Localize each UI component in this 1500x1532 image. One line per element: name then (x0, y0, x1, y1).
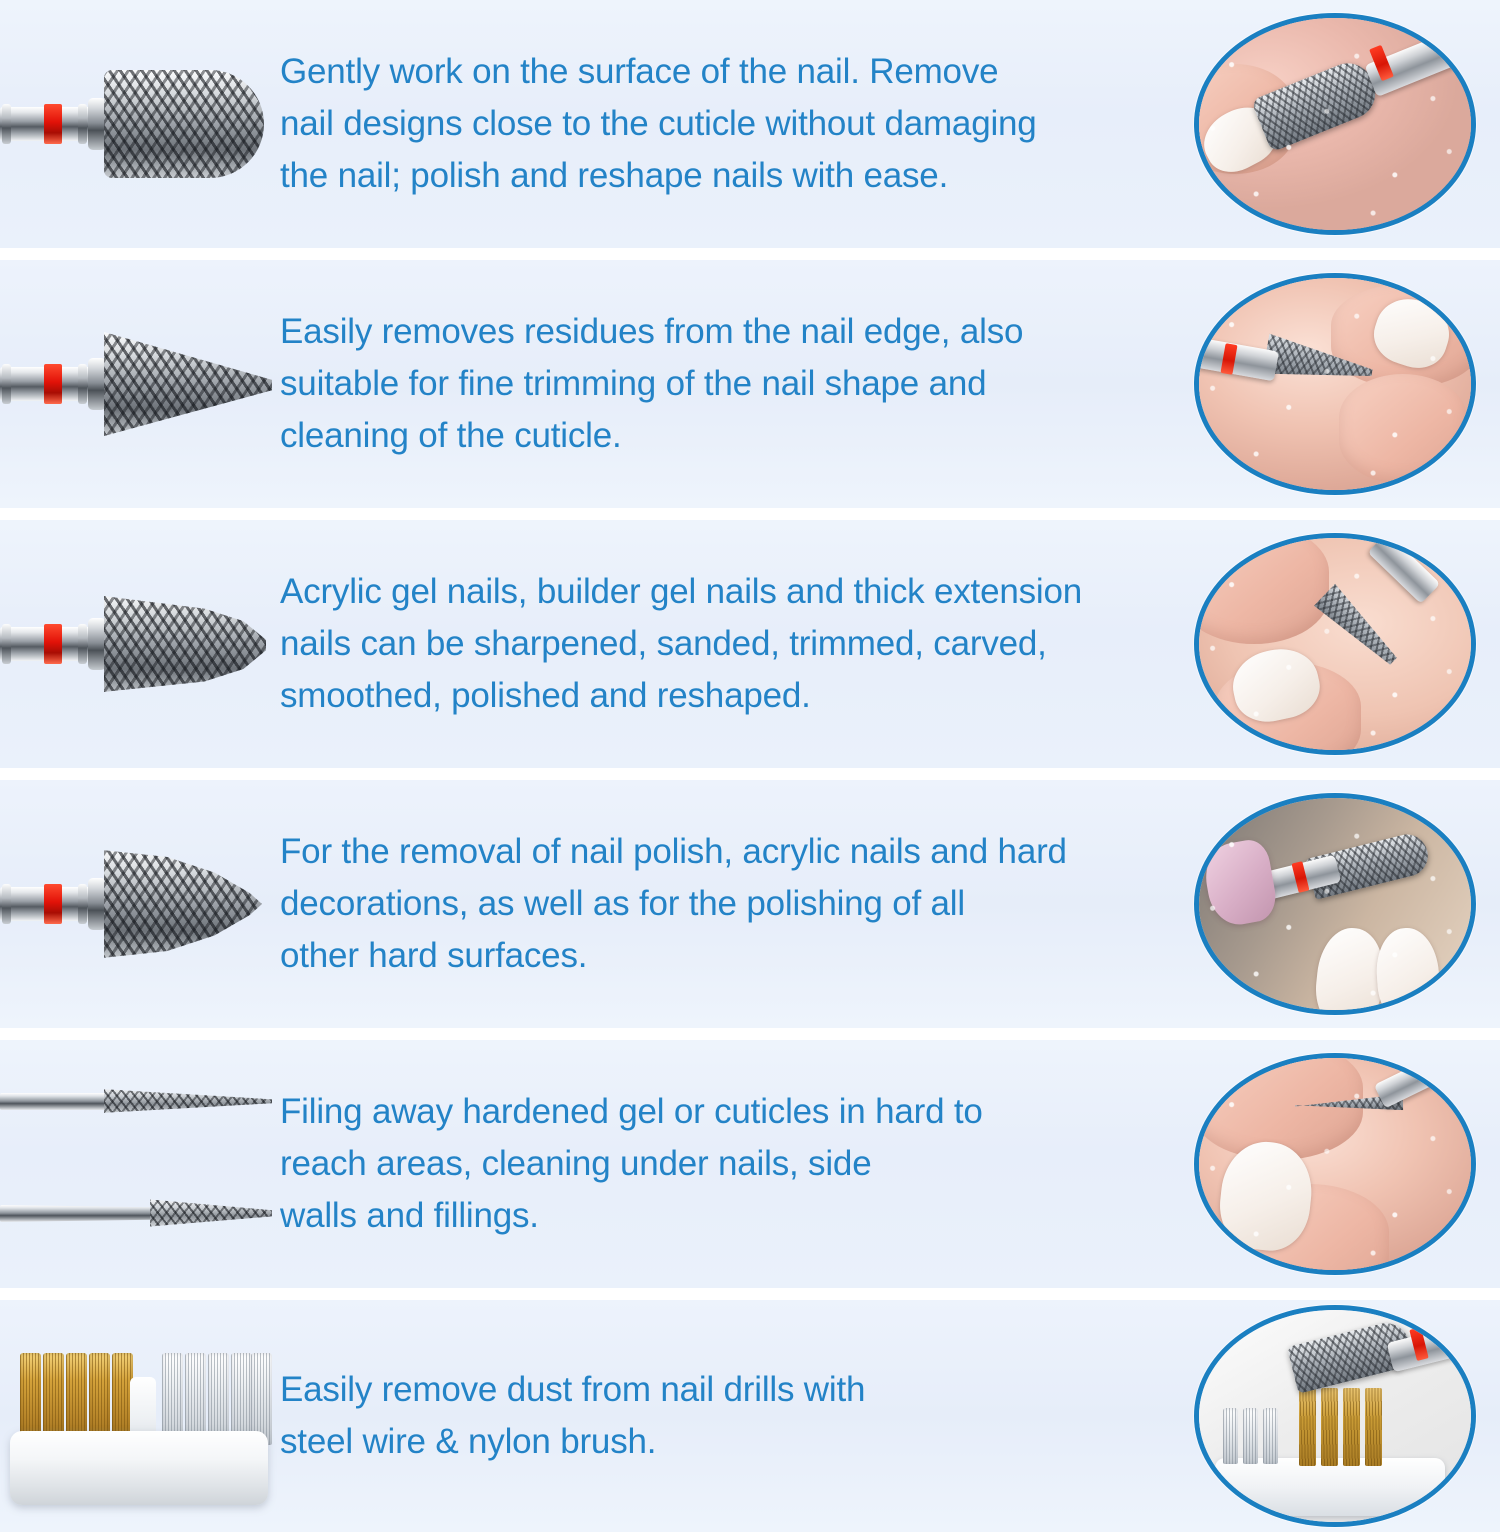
brush-illustration (0, 1300, 272, 1532)
feature-photo-col-3 (1170, 520, 1500, 768)
feature-photo-col-6 (1170, 1300, 1500, 1532)
row-separator-3 (0, 768, 1500, 780)
feature-photo-col-4 (1170, 780, 1500, 1028)
feature-photo-col-5 (1170, 1040, 1500, 1288)
bit-collar-4 (88, 878, 106, 930)
feature-caption-4: For the removal of nail polish, acrylic … (280, 826, 1154, 982)
feature-row-2: Easily removes residues from the nail ed… (0, 260, 1500, 508)
oval-photo-3 (1194, 533, 1476, 755)
bit-illustration-3 (0, 520, 272, 768)
bit-shank-4 (0, 887, 96, 921)
feature-row-4: For the removal of nail polish, acrylic … (0, 780, 1500, 1028)
row-separator-1 (0, 248, 1500, 260)
bit-shank-1 (0, 107, 96, 141)
oval-photo-6 (1194, 1305, 1476, 1527)
feature-photo-col-2 (1170, 260, 1500, 508)
bit-illustration-1 (0, 0, 272, 248)
bit-head-cone (104, 332, 272, 436)
feature-row-5: Filing away hardened gel or cuticles in … (0, 1040, 1500, 1288)
oval-photo-5 (1194, 1053, 1476, 1275)
feature-text-2: Easily removes residues from the nail ed… (272, 306, 1170, 462)
bit-collar-3 (88, 618, 106, 670)
row-separator-4 (0, 1028, 1500, 1040)
oval-photo-2 (1194, 273, 1476, 495)
feature-caption-1: Gently work on the surface of the nail. … (280, 46, 1154, 202)
feature-text-1: Gently work on the surface of the nail. … (272, 46, 1170, 202)
feature-caption-2: Easily removes residues from the nail ed… (280, 306, 1154, 462)
oval-photo-4 (1194, 793, 1476, 1015)
feature-photo-col-1 (1170, 0, 1500, 248)
feature-row-1: Gently work on the surface of the nail. … (0, 0, 1500, 248)
bit-head-taper (104, 592, 266, 696)
bit-illustration-4 (0, 780, 272, 1028)
feature-text-4: For the removal of nail polish, acrylic … (272, 826, 1170, 982)
feature-caption-6: Easily remove dust from nail drills with… (280, 1364, 1154, 1468)
feature-text-6: Easily remove dust from nail drills with… (272, 1364, 1170, 1468)
feature-row-3: Acrylic gel nails, builder gel nails and… (0, 520, 1500, 768)
bit-head-flame (104, 848, 262, 960)
feature-text-5: Filing away hardened gel or cuticles in … (272, 1086, 1170, 1242)
bit-shank-2 (0, 367, 96, 401)
row-separator-5 (0, 1288, 1500, 1300)
bit-head-barrel (104, 70, 264, 178)
bit-shank-3 (0, 627, 96, 661)
bit-collar-2 (88, 358, 106, 410)
oval-photo-1 (1194, 13, 1476, 235)
needle-bit-upper (0, 1081, 272, 1121)
brush-base (10, 1431, 268, 1505)
feature-caption-3: Acrylic gel nails, builder gel nails and… (280, 566, 1154, 722)
infographic-sheet: Gently work on the surface of the nail. … (0, 0, 1500, 1500)
feature-text-3: Acrylic gel nails, builder gel nails and… (272, 566, 1170, 722)
row-separator-2 (0, 508, 1500, 520)
feature-caption-5: Filing away hardened gel or cuticles in … (280, 1086, 1154, 1242)
bit-illustration-2 (0, 260, 272, 508)
bit-illustration-5 (0, 1040, 272, 1288)
feature-row-6: Easily remove dust from nail drills with… (0, 1300, 1500, 1532)
needle-bit-lower (0, 1193, 272, 1233)
